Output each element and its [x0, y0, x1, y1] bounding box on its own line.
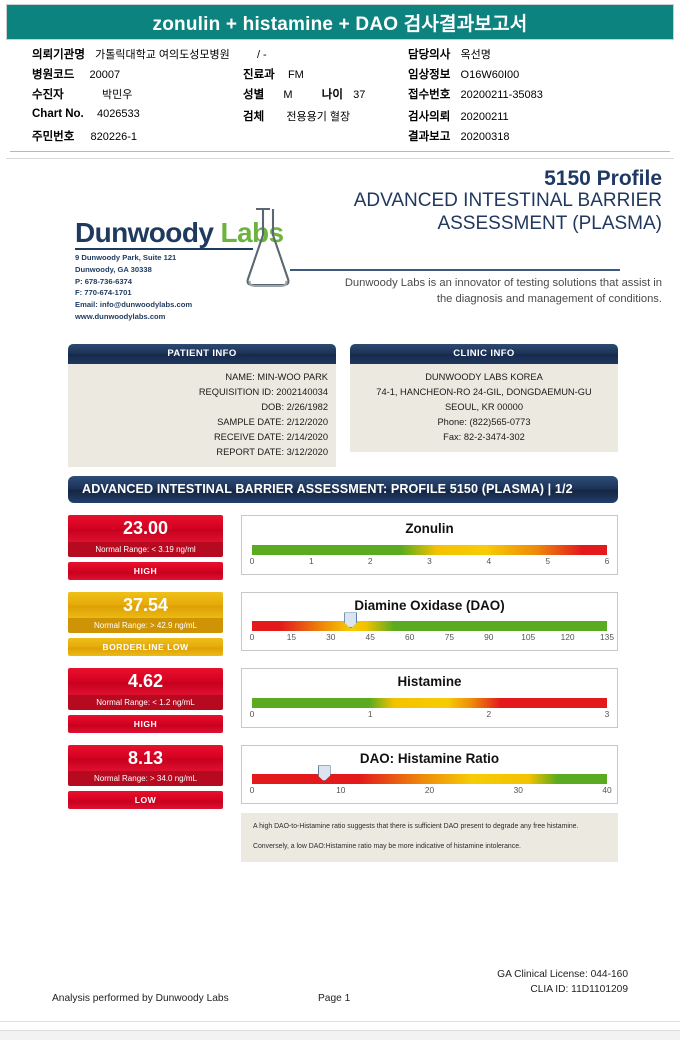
section-title-bar: ADVANCED INTESTINAL BARRIER ASSESSMENT: …: [68, 476, 618, 503]
result-row: 4.62 Normal Range: < 1.2 ng/mL HIGH Hist…: [68, 668, 618, 732]
result-chart-card: DAO: Histamine Ratio 0 10 20 30 40: [241, 745, 618, 805]
tick-label: 90: [484, 632, 493, 642]
field-rrn-value: 820226-1: [91, 131, 138, 143]
profile-name-line1: ADVANCED INTESTINAL BARRIER: [242, 190, 662, 212]
result-flag-badge: BORDERLINE LOW: [68, 638, 223, 656]
info-boxes: PATIENT INFO NAME: MIN-WOO PARK REQUISIT…: [68, 344, 618, 467]
field-age-value: 37: [353, 89, 365, 101]
clinic-name: DUNWOODY LABS KOREA: [358, 370, 610, 385]
tick-label: 120: [561, 632, 575, 642]
report-footer: GA Clinical License: 044-160 CLIA ID: 11…: [0, 968, 680, 1022]
field-receipt-no-label: 접수번호: [408, 89, 450, 101]
field-clinical-info-label: 임상정보: [408, 69, 450, 81]
chart-title: Histamine: [252, 674, 607, 691]
field-institution-value: 가톨릭대학교 여의도성모병원: [95, 49, 230, 61]
result-value: 8.13: [68, 745, 223, 771]
field-doctor: 담당의사 옥선명: [408, 46, 491, 62]
tick-label: 0: [250, 556, 255, 566]
field-specimen: 검체 전용용기 혈장: [243, 108, 350, 124]
field-hospital-code-label: 병원코드: [32, 69, 74, 81]
field-patient: 수진자 박민우: [32, 86, 132, 102]
tick-label: 2: [486, 709, 491, 719]
header-divider: [6, 152, 674, 159]
field-chart-no: Chart No. 4026533: [32, 108, 140, 120]
tick-label: 0: [250, 785, 255, 795]
result-value-card: 23.00 Normal Range: < 3.19 ng/ml HIGH: [68, 515, 223, 579]
field-doctor-value: 옥선명: [461, 49, 491, 61]
chart-title: DAO: Histamine Ratio: [252, 751, 607, 768]
lab-tagline: Dunwoody Labs is an innovator of testing…: [327, 275, 662, 307]
patient-receive-date: RECEIVE DATE: 2/14/2020: [76, 430, 328, 445]
patient-dob: DOB: 2/26/1982: [76, 400, 328, 415]
note-line-2: Conversely, a low DAO:Histamine ratio ma…: [253, 842, 606, 852]
field-department-label: 진료과: [243, 69, 275, 81]
tick-label: 5: [545, 556, 550, 566]
chart-title: Diamine Oxidase (DAO): [252, 598, 607, 615]
clinic-info-body: DUNWOODY LABS KOREA 74-1, HANCHEON-RO 24…: [350, 364, 618, 452]
result-normal-range: Normal Range: < 1.2 ng/mL: [68, 695, 223, 710]
address-website: www.dunwoodylabs.com: [75, 311, 285, 323]
gauge-ticks: 0 10 20 30 40: [252, 785, 607, 799]
gauge-bar: [252, 698, 607, 708]
field-sex-age: 성별 M 나이 37: [243, 86, 365, 102]
profile-number: 5150 Profile: [242, 167, 662, 190]
clia-id: CLIA ID: 11D1101209: [497, 983, 628, 998]
tagline-line-2: the diagnosis and management of conditio…: [327, 291, 662, 307]
result-value: 23.00: [68, 515, 223, 541]
result-row: 37.54 Normal Range: > 42.9 ng/mL BORDERL…: [68, 592, 618, 656]
bottom-band: [0, 1030, 680, 1040]
field-test-request-label: 검사의뢰: [408, 111, 450, 123]
result-value: 37.54: [68, 592, 223, 618]
tick-label: 135: [600, 632, 614, 642]
patient-requisition-id: REQUISITION ID: 2002140034: [76, 385, 328, 400]
clinic-city: SEOUL, KR 00000: [358, 400, 610, 415]
patient-info-body: NAME: MIN-WOO PARK REQUISITION ID: 20021…: [68, 364, 336, 467]
field-test-request-value: 20200211: [461, 111, 509, 123]
field-clinical-info-value: O16W60I00: [461, 69, 520, 81]
license-block: GA Clinical License: 044-160 CLIA ID: 11…: [497, 968, 628, 998]
ga-clinical-license: GA Clinical License: 044-160: [497, 968, 628, 983]
tick-label: 10: [336, 785, 345, 795]
flask-icon: [238, 205, 298, 295]
tick-label: 20: [425, 785, 434, 795]
field-department-value: FM: [288, 69, 304, 81]
tick-label: 105: [521, 632, 535, 642]
result-row: 8.13 Normal Range: > 34.0 ng/mL LOW DAO:…: [68, 745, 618, 862]
tick-label: 4: [486, 556, 491, 566]
result-value-card: 8.13 Normal Range: > 34.0 ng/mL LOW: [68, 745, 223, 809]
results-list: 23.00 Normal Range: < 3.19 ng/ml HIGH Zo…: [68, 515, 618, 862]
clinic-info-heading: CLINIC INFO: [350, 344, 618, 364]
result-normal-range: Normal Range: > 34.0 ng/mL: [68, 771, 223, 786]
tick-label: 3: [605, 709, 610, 719]
tick-label: 6: [605, 556, 610, 566]
gauge-area: [252, 694, 607, 708]
result-flag-badge: HIGH: [68, 715, 223, 733]
result-chart-card: Histamine 0 1 2 3: [241, 668, 618, 728]
clinic-fax: Fax: 82-2-3474-302: [358, 430, 610, 445]
field-clinical-info: 임상정보 O16W60I00: [408, 66, 519, 82]
field-result-report-value: 20200318: [461, 131, 510, 143]
gauge-bar: [252, 621, 607, 631]
field-institution: 의뢰기관명 가톨릭대학교 여의도성모병원 / -: [32, 46, 267, 62]
analysis-credit: Analysis performed by Dunwoody Labs: [52, 993, 229, 1004]
tick-label: 2: [368, 556, 373, 566]
address-email: Email: info@dunwoodylabs.com: [75, 299, 285, 311]
chart-title: Zonulin: [252, 521, 607, 538]
field-institution-label: 의뢰기관명: [32, 49, 85, 61]
clinic-info-box: CLINIC INFO DUNWOODY LABS KOREA 74-1, HA…: [350, 344, 618, 467]
patient-name: NAME: MIN-WOO PARK: [76, 370, 328, 385]
ratio-chart-column: DAO: Histamine Ratio 0 10 20 30 40: [241, 745, 618, 862]
gauge-ticks: 0 1 2 3: [252, 709, 607, 723]
result-chart-card: Diamine Oxidase (DAO) 0 15 30 45 60 75 9…: [241, 592, 618, 652]
tick-label: 3: [427, 556, 432, 566]
tick-label: 60: [405, 632, 414, 642]
field-rrn-label: 주민번호: [32, 131, 74, 143]
clinic-street: 74-1, HANCHEON-RO 24-GIL, DONGDAEMUN-GU: [358, 385, 610, 400]
footer-divider: [0, 1021, 680, 1022]
patient-sample-date: SAMPLE DATE: 2/12/2020: [76, 415, 328, 430]
korean-patient-fields: 의뢰기관명 가톨릭대학교 여의도성모병원 / - 병원코드 20007 수진자 …: [10, 40, 670, 152]
tick-label: 1: [368, 709, 373, 719]
tick-label: 75: [445, 632, 454, 642]
korean-title-bar: zonulin + histamine + DAO 검사결과보고서: [6, 4, 674, 40]
result-value-card: 4.62 Normal Range: < 1.2 ng/mL HIGH: [68, 668, 223, 732]
field-rrn: 주민번호 820226-1: [32, 128, 137, 144]
gauge-ticks: 0 15 30 45 60 75 90 105 120 135: [252, 632, 607, 646]
logo-dunwoody-text: Dunwoody: [75, 217, 213, 248]
field-doctor-label: 담당의사: [408, 49, 450, 61]
page-number: Page 1: [318, 993, 350, 1004]
clinic-phone: Phone: (822)565-0773: [358, 415, 610, 430]
lab-report-body: 5150 Profile ADVANCED INTESTINAL BARRIER…: [0, 159, 680, 862]
field-receipt-no-value: 20200211-35083: [461, 89, 543, 101]
result-flag-badge: HIGH: [68, 562, 223, 580]
field-hospital-code: 병원코드 20007: [32, 66, 120, 82]
note-line-1: A high DAO-to-Histamine ratio suggests t…: [253, 822, 606, 832]
field-department: 진료과 FM: [243, 66, 304, 82]
field-sex-label: 성별: [243, 89, 264, 101]
profile-title-block: 5150 Profile ADVANCED INTESTINAL BARRIER…: [242, 167, 662, 235]
report-page: zonulin + histamine + DAO 검사결과보고서 의뢰기관명 …: [0, 0, 680, 1040]
field-patient-label: 수진자: [32, 89, 64, 101]
field-specimen-label: 검체: [243, 111, 264, 123]
patient-info-heading: PATIENT INFO: [68, 344, 336, 364]
gauge-ticks: 0 1 2 3 4 5 6: [252, 556, 607, 570]
tick-label: 30: [326, 632, 335, 642]
result-row: 23.00 Normal Range: < 3.19 ng/ml HIGH Zo…: [68, 515, 618, 579]
gauge-area: [252, 541, 607, 555]
result-normal-range: Normal Range: > 42.9 ng/mL: [68, 618, 223, 633]
field-chart-no-value: 4026533: [97, 108, 140, 120]
tagline-divider: [290, 269, 620, 271]
field-receipt-no: 접수번호 20200211-35083: [408, 86, 543, 102]
field-chart-no-label: Chart No.: [32, 108, 84, 120]
korean-header: zonulin + histamine + DAO 검사결과보고서 의뢰기관명 …: [0, 0, 680, 159]
tagline-line-1: Dunwoody Labs is an innovator of testing…: [327, 275, 662, 291]
logo-underline: [75, 248, 253, 250]
tick-label: 1: [309, 556, 314, 566]
tick-label: 40: [602, 785, 611, 795]
tick-label: 30: [514, 785, 523, 795]
field-result-report-label: 결과보고: [408, 131, 450, 143]
result-chart-card: Zonulin 0 1 2 3 4 5 6: [241, 515, 618, 575]
field-sex-value: M: [283, 89, 292, 101]
patient-report-date: REPORT DATE: 3/12/2020: [76, 445, 328, 460]
patient-info-box: PATIENT INFO NAME: MIN-WOO PARK REQUISIT…: [68, 344, 336, 467]
korean-report-title: zonulin + histamine + DAO 검사결과보고서: [153, 9, 528, 36]
gauge-bar: [252, 545, 607, 555]
result-flag-badge: LOW: [68, 791, 223, 809]
result-normal-range: Normal Range: < 3.19 ng/ml: [68, 542, 223, 557]
gauge-bar: [252, 774, 607, 784]
tick-label: 15: [287, 632, 296, 642]
result-value: 4.62: [68, 668, 223, 694]
field-result-report: 결과보고 20200318: [408, 128, 509, 144]
field-specimen-value: 전용용기 혈장: [286, 111, 350, 123]
tick-label: 0: [250, 632, 255, 642]
gauge-area: [252, 617, 607, 631]
brand-zone: 5150 Profile ADVANCED INTESTINAL BARRIER…: [0, 159, 680, 344]
field-patient-value: 박민우: [102, 89, 132, 101]
tick-label: 45: [366, 632, 375, 642]
gauge-area: [252, 770, 607, 784]
profile-name-line2: ASSESSMENT (PLASMA): [242, 213, 662, 235]
field-test-request: 검사의뢰 20200211: [408, 108, 509, 124]
field-institution-suffix: / -: [257, 49, 267, 61]
result-value-card: 37.54 Normal Range: > 42.9 ng/mL BORDERL…: [68, 592, 223, 656]
tick-label: 0: [250, 709, 255, 719]
field-age-label: 나이: [322, 89, 343, 101]
ratio-interpretation-note: A high DAO-to-Histamine ratio suggests t…: [241, 813, 618, 862]
field-hospital-code-value: 20007: [90, 69, 121, 81]
